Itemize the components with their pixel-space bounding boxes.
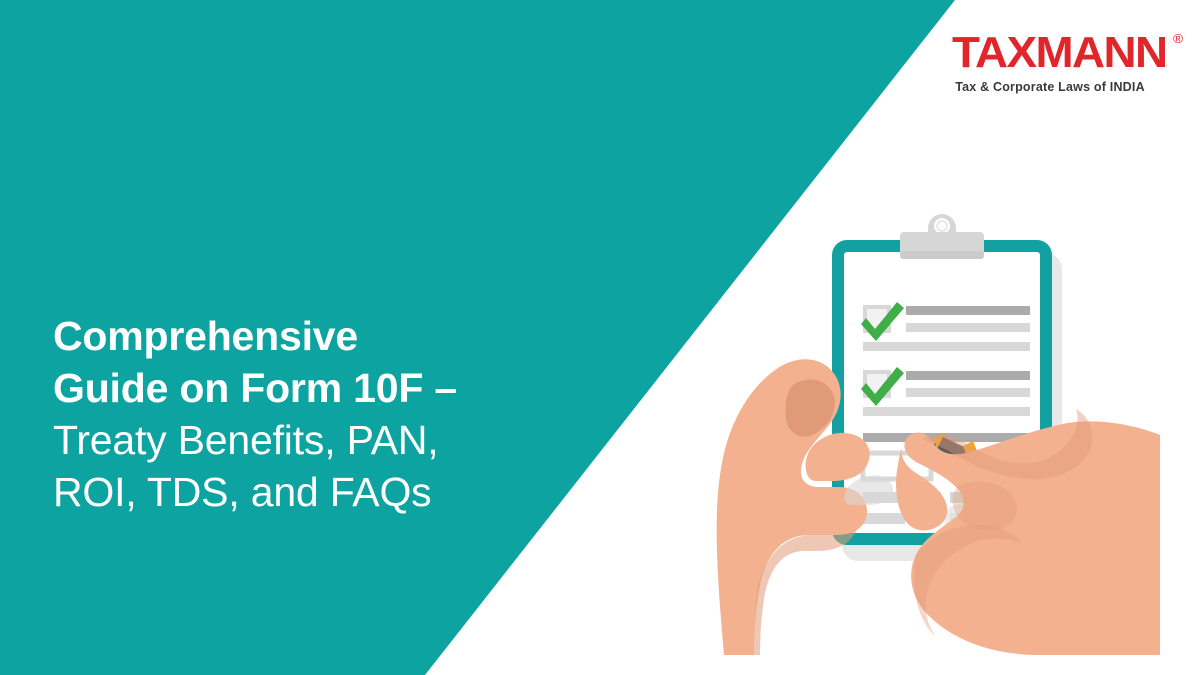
left-thumb-shading xyxy=(785,379,834,436)
headline-line-3: Treaty Benefits, PAN, xyxy=(53,414,573,466)
clipboard-illustration xyxy=(660,185,1160,655)
checklist-item-2 xyxy=(861,367,1030,416)
logo-tagline: Tax & Corporate Laws of INDIA xyxy=(952,80,1148,94)
headline-line-4: ROI, TDS, and FAQs xyxy=(53,466,573,518)
logo-wordmark: TAXMANN® xyxy=(952,30,1166,76)
page-title: Comprehensive Guide on Form 10F – Treaty… xyxy=(53,310,573,518)
headline-line-2: Guide on Form 10F – xyxy=(53,362,573,414)
headline-line-1: Comprehensive xyxy=(53,310,573,362)
checklist-item-1 xyxy=(861,302,1030,351)
taxmann-logo: TAXMANN® Tax & Corporate Laws of INDIA xyxy=(952,30,1148,94)
promo-banner: Comprehensive Guide on Form 10F – Treaty… xyxy=(0,0,1200,675)
clipboard-clip xyxy=(900,214,984,259)
logo-wordmark-text: TAXMANN xyxy=(952,28,1166,77)
registered-trademark-icon: ® xyxy=(1173,32,1183,45)
